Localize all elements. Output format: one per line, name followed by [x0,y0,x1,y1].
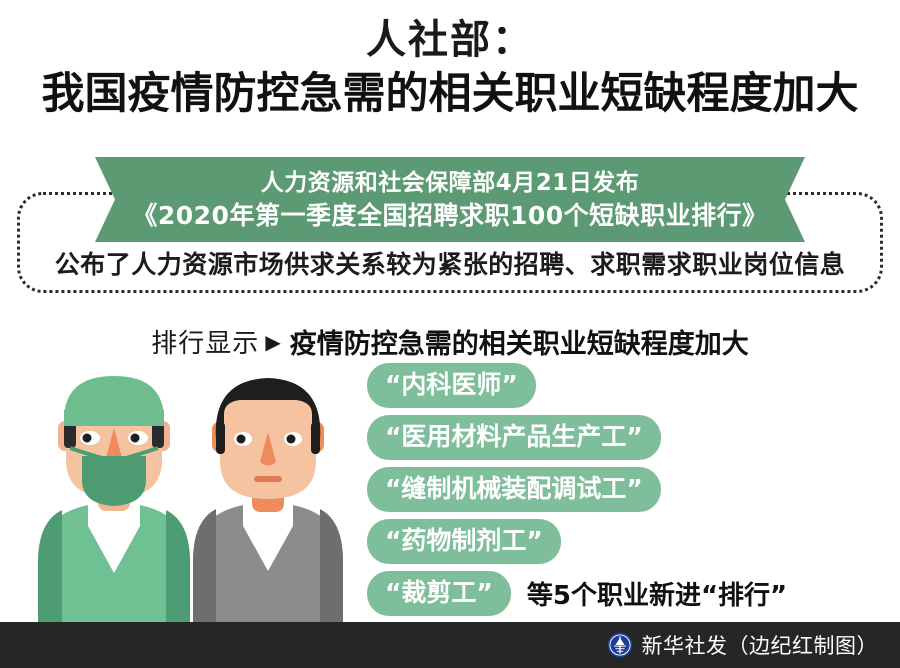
xinhua-logo-icon [607,632,633,658]
lead-line: 排行显示 ▶ 疫情防控急需的相关职业短缺程度加大 [0,322,900,361]
left-pupil [237,435,246,444]
pill-tail-text: 等5个职业新进“排行” [527,575,787,612]
left-pupil [83,434,92,443]
doctor-figure [38,376,190,622]
occupation-pill: “内科医师” [367,363,536,408]
person-in-gray-figure [193,378,343,622]
footer-bar: 新华社发（边纪红制图） [0,622,900,668]
people-illustration [30,366,360,622]
right-pupil [131,434,140,443]
pill-row: “药物制剂工” [367,519,787,564]
occupation-pill: “缝制机械装配调试工” [367,467,661,512]
cap-band [64,410,164,426]
page-title: 人社部： 我国疫情防控急需的相关职业短缺程度加大 [0,14,900,122]
coat-shadow-left [193,509,216,622]
pill-row: “缝制机械装配调试工” [367,467,787,512]
mouth [254,476,282,482]
title-line-2: 我国疫情防控急需的相关职业短缺程度加大 [0,66,900,122]
occupation-pill: “医用材料产品生产工” [367,415,661,460]
pill-row: “医用材料产品生产工” [367,415,787,460]
lead-label: 排行显示 [151,323,259,360]
right-sideburn [311,422,320,454]
gown-shadow-left [38,510,62,622]
occupation-pill: “药物制剂工” [367,519,561,564]
surgical-mask [82,456,146,506]
infographic-poster: 人社部： 我国疫情防控急需的相关职业短缺程度加大 公布了人力资源市场供求关系较为… [0,0,900,668]
occupation-pill-list: “内科医师” “医用材料产品生产工” “缝制机械装配调试工” “药物制剂工” “… [367,363,787,623]
ribbon-line-1: 人力资源和社会保障部4月21日发布 [261,167,640,199]
triangle-right-icon: ▶ [265,332,280,352]
ribbon-line-2: 《2020年第一季度全国招聘求职100个短缺职业排行》 [132,199,767,233]
title-line-1: 人社部： [0,14,900,66]
dashed-box-text: 公布了人力资源市场供求关系较为紧张的招聘、求职需求职业岗位信息 [0,245,900,281]
footer-credit: 新华社发（边纪红制图） [607,622,879,668]
footer-text: 新华社发（边纪红制图） [642,630,879,660]
lead-main-text: 疫情防控急需的相关职业短缺程度加大 [290,322,749,361]
ribbon-text-group: 人力资源和社会保障部4月21日发布 《2020年第一季度全国招聘求职100个短缺… [95,157,805,242]
left-sideburn [216,422,225,454]
right-pupil [287,435,296,444]
gown-shadow-right [166,510,190,622]
pill-row: “内科医师” [367,363,787,408]
pill-row: “裁剪工” 等5个职业新进“排行” [367,571,787,616]
coat-shadow-right [320,509,343,622]
occupation-pill: “裁剪工” [367,571,511,616]
